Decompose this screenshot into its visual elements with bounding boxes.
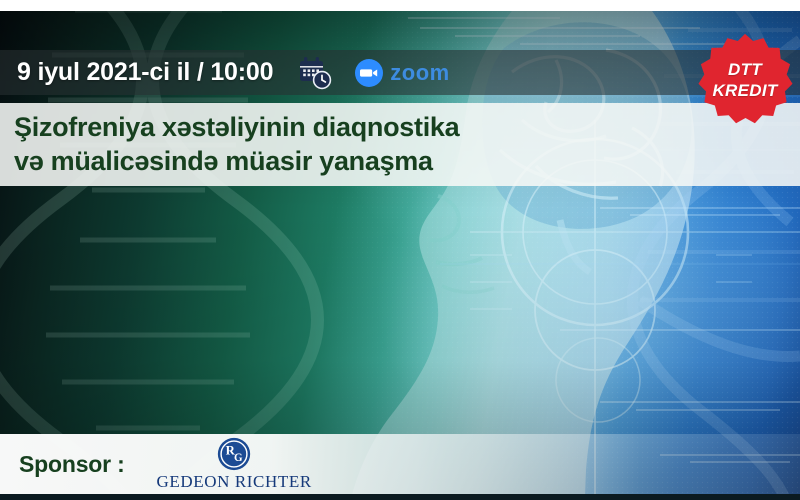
rg-monogram-icon: R G [217,437,251,471]
page-title-line-2: və müalicəsində müasir yanaşma [14,144,800,178]
badge-line-2: KREDIT [712,80,777,101]
gedeon-richter-wordmark: GEDEON RICHTER [157,472,312,492]
bottom-trim [0,494,800,500]
zoom-wordmark: zoom [390,60,449,86]
sponsor-label: Sponsor : [19,451,125,478]
badge-line-1: DTT [728,59,762,80]
title-band: Şizofreniya xəstəliyinin diaqnostika və … [0,103,800,186]
webinar-poster: 9 iyul 2021-ci il / 10:00 [0,0,800,500]
date-band: 9 iyul 2021-ci il / 10:00 [0,50,800,95]
page-title-line-1: Şizofreniya xəstəliyinin diaqnostika [14,110,800,144]
zoom-logo: zoom [354,58,449,88]
event-datetime: 9 iyul 2021-ci il / 10:00 [17,58,273,87]
svg-text:G: G [234,451,243,463]
dtt-kredit-badge: DTT KREDIT [697,32,793,128]
badge-text: DTT KREDIT [697,32,793,128]
calendar-clock-icon [298,56,332,90]
top-white-trim [0,0,800,11]
gedeon-richter-logo: R G GEDEON RICHTER [157,437,312,492]
sponsor-band: Sponsor : R G GEDEON RICHTER [0,434,800,494]
zoom-video-camera-icon [354,58,384,88]
